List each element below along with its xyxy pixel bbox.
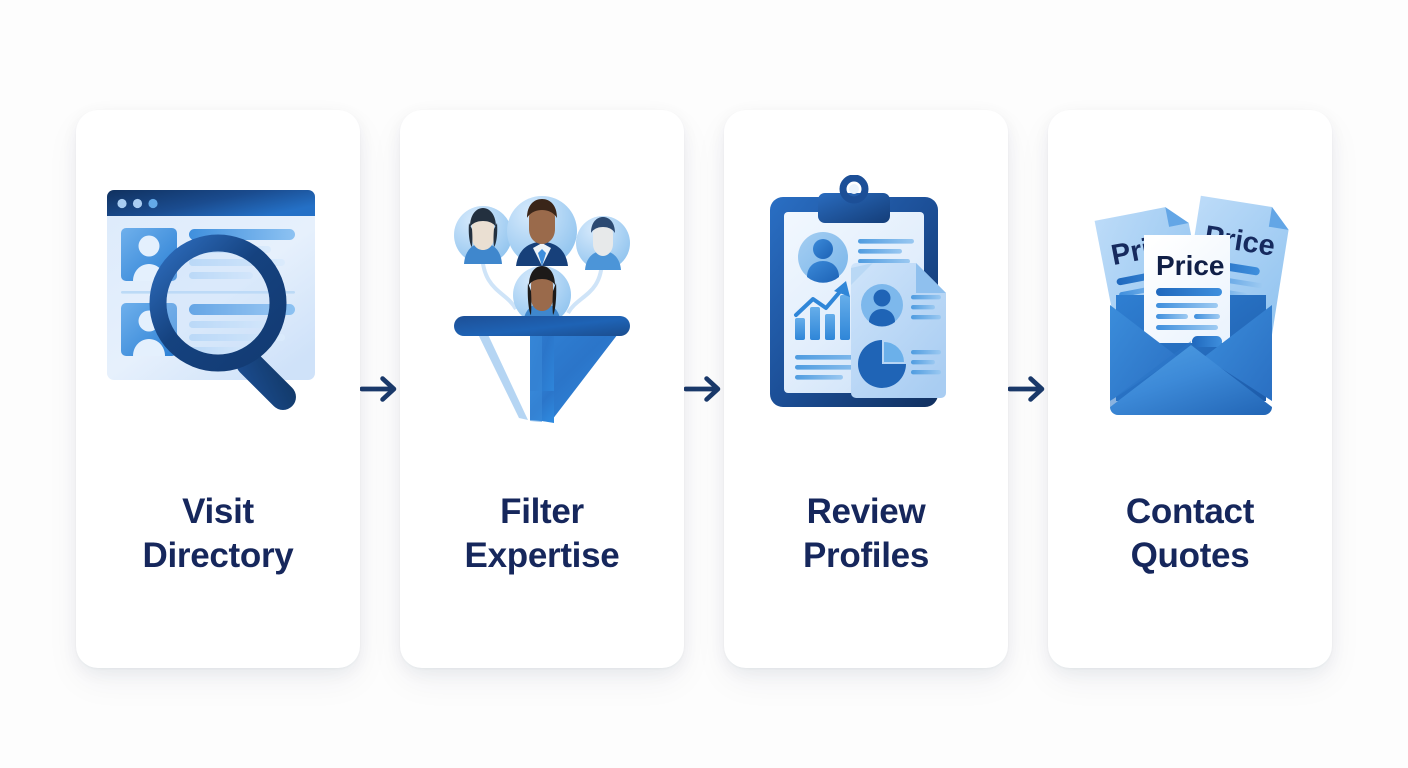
arrow-right-icon xyxy=(360,372,400,406)
icon-browser-directory-search-icon xyxy=(76,110,360,490)
step-card-visit-directory[interactable]: Visit Directory xyxy=(76,110,360,668)
step-label-review-profiles: Review Profiles xyxy=(741,490,991,578)
process-flow: Visit Directory xyxy=(76,110,1332,668)
step-label-contact-quotes: Contact Quotes xyxy=(1065,490,1315,578)
arrow-right-icon xyxy=(684,372,724,406)
icon-funnel-people-filter-icon xyxy=(400,110,684,490)
icon-clipboard-profile-report-icon xyxy=(724,110,1008,490)
step-card-filter-expertise[interactable]: Filter Expertise xyxy=(400,110,684,668)
svg-text:Price: Price xyxy=(1156,250,1225,281)
connector-arrow-3 xyxy=(1008,372,1048,406)
infographic-canvas: Visit Directory xyxy=(0,0,1408,768)
icon-envelope-price-quotes-icon: Price Price xyxy=(1048,110,1332,490)
step-label-filter-expertise: Filter Expertise xyxy=(417,490,667,578)
step-card-review-profiles[interactable]: Review Profiles xyxy=(724,110,1008,668)
connector-arrow-1 xyxy=(360,372,400,406)
arrow-right-icon xyxy=(1008,372,1048,406)
step-card-contact-quotes[interactable]: Price Price xyxy=(1048,110,1332,668)
connector-arrow-2 xyxy=(684,372,724,406)
step-label-visit-directory: Visit Directory xyxy=(93,490,343,578)
